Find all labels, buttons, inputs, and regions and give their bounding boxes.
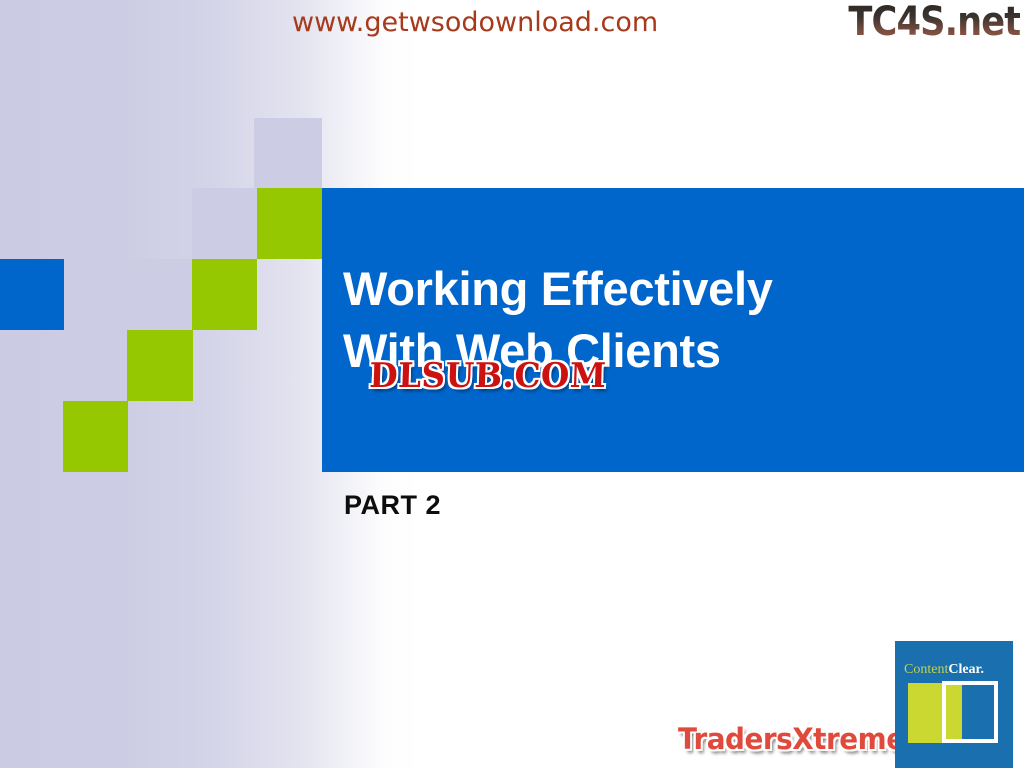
lavender-r2-c3: [192, 188, 257, 259]
title-line-1: Working Effectively: [343, 258, 1003, 320]
blue-r3-c0: [0, 259, 64, 330]
lavender-r1-c4: [254, 118, 322, 188]
green-r4-c2: [127, 330, 193, 401]
presentation-slide: Working Effectively With Web Clients PAR…: [0, 0, 1024, 768]
logo-word-content: Content: [904, 662, 948, 677]
logo-word-clear: Clear.: [948, 662, 984, 677]
green-r5-c1: [63, 401, 128, 472]
part-label: PART 2: [344, 490, 441, 521]
lavender-r3-c2: [127, 259, 192, 330]
watermark-tc4s: TC4S.net: [848, 0, 1020, 45]
watermark-getwsodownload: www.getwsodownload.com: [292, 7, 658, 38]
logo-inner-green-bar: [946, 685, 962, 739]
watermark-dlsub: DLSUB.COM: [369, 356, 607, 396]
lavender-r4-c1: [63, 330, 128, 401]
green-r3-c3: [192, 259, 257, 330]
contentclear-wordmark: ContentClear.: [904, 662, 984, 678]
contentclear-logo: ContentClear.: [895, 641, 1013, 768]
green-r2-c4: [257, 188, 322, 259]
